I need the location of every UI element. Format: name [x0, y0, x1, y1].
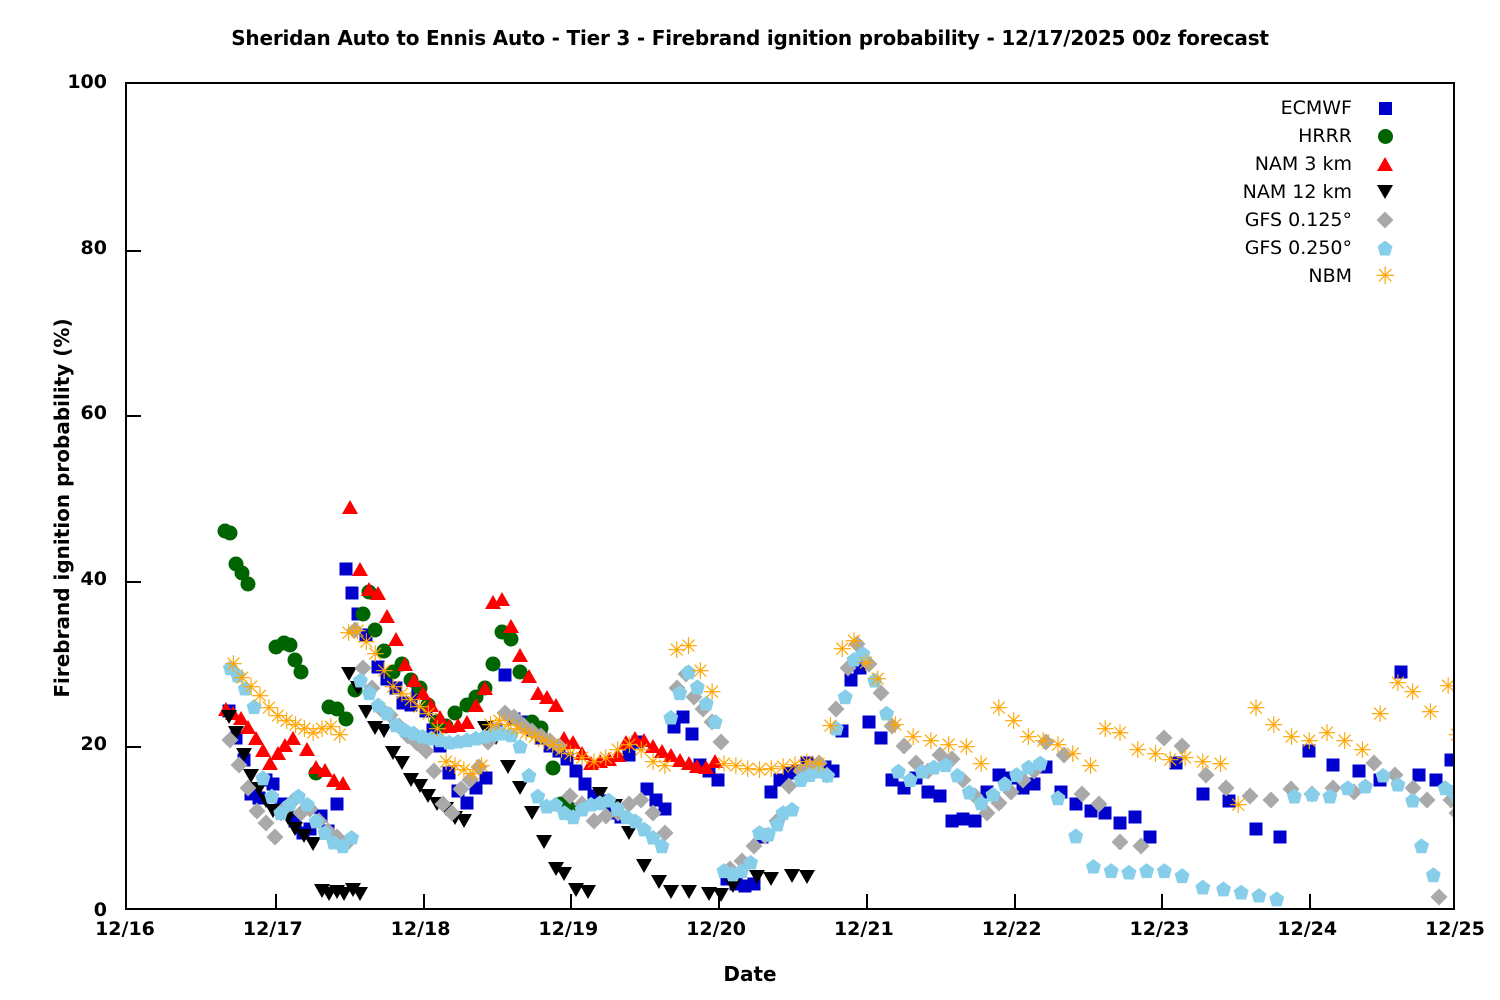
data-point	[330, 798, 343, 811]
y-tick-label: 100	[17, 71, 107, 93]
data-point	[1175, 868, 1190, 883]
x-tick-mark	[275, 894, 277, 908]
data-point	[1216, 881, 1231, 896]
data-point	[477, 681, 493, 695]
legend-marker	[1370, 210, 1400, 230]
data-point	[1195, 880, 1210, 895]
data-point	[621, 826, 637, 840]
data-point	[1445, 754, 1455, 767]
y-tick-label: 0	[17, 899, 107, 921]
data-point	[1009, 767, 1024, 782]
data-point	[579, 777, 592, 790]
x-tick-mark	[1014, 894, 1016, 908]
data-point	[536, 835, 552, 849]
data-point	[370, 586, 386, 600]
data-point	[468, 698, 484, 712]
data-point	[785, 802, 800, 817]
data-point	[1353, 765, 1366, 778]
data-point	[838, 689, 853, 704]
data-point: ✳	[820, 717, 840, 737]
data-point	[749, 870, 765, 884]
data-point	[460, 796, 473, 809]
x-axis-label: Date	[0, 962, 1500, 986]
triangle-up-marker	[1377, 157, 1393, 171]
data-point	[294, 664, 309, 679]
x-tick-label: 12/19	[538, 918, 598, 940]
y-axis-label: Firebrand ignition probability (%)	[50, 208, 74, 808]
star-marker: ✳	[1375, 266, 1395, 286]
data-point	[459, 715, 475, 729]
data-point	[1326, 758, 1339, 771]
data-point	[676, 711, 689, 724]
legend-label: GFS 0.125°	[1245, 209, 1352, 231]
data-point: ✳	[1438, 677, 1455, 697]
x-tick-label: 12/23	[1130, 918, 1190, 940]
data-point	[1414, 838, 1429, 853]
data-point	[379, 609, 395, 623]
legend-label: HRRR	[1298, 125, 1352, 147]
data-point	[681, 885, 697, 899]
data-point	[344, 830, 359, 845]
data-point	[241, 577, 256, 592]
data-point	[636, 859, 652, 873]
data-point	[763, 872, 779, 886]
data-point	[352, 887, 368, 901]
data-point	[223, 525, 238, 540]
legend-label: GFS 0.250°	[1245, 237, 1352, 259]
chart-figure: Sheridan Auto to Ennis Auto - Tier 3 - F…	[0, 0, 1500, 1000]
data-point	[221, 710, 237, 724]
triangle-down-marker	[1377, 185, 1393, 199]
legend-label: NAM 3 km	[1255, 153, 1352, 175]
data-point: ✳	[868, 670, 888, 690]
x-tick-label: 12/22	[982, 918, 1042, 940]
legend-item-nam-12-km[interactable]: NAM 12 km	[1150, 178, 1400, 206]
data-point	[1112, 833, 1129, 850]
data-point	[1269, 891, 1284, 906]
x-tick-label: 12/17	[243, 918, 303, 940]
circle-marker	[1378, 129, 1393, 144]
data-point: ✳	[1403, 683, 1423, 703]
data-point	[499, 669, 512, 682]
data-point: ✳	[330, 726, 350, 746]
data-point	[784, 869, 800, 883]
data-point	[486, 656, 501, 671]
y-tick-mark	[127, 415, 141, 417]
data-point: ✳	[655, 757, 675, 777]
data-point	[1139, 863, 1154, 878]
data-point	[335, 776, 351, 790]
legend-marker	[1370, 98, 1400, 118]
x-tick-label: 12/20	[686, 918, 746, 940]
legend-label: ECMWF	[1281, 97, 1352, 119]
data-point	[1426, 867, 1441, 882]
data-point	[1340, 780, 1355, 795]
data-point	[1358, 779, 1373, 794]
data-point	[388, 632, 404, 646]
data-point	[521, 768, 536, 783]
data-point	[862, 715, 875, 728]
data-point	[1431, 889, 1448, 906]
data-point	[1234, 885, 1249, 900]
data-point	[713, 734, 730, 751]
data-point	[255, 743, 271, 757]
data-point: ✳	[427, 720, 447, 740]
x-tick-label: 12/25	[1425, 918, 1485, 940]
data-point	[685, 727, 698, 740]
data-point	[1376, 768, 1391, 783]
data-point	[1196, 788, 1209, 801]
data-point	[933, 790, 946, 803]
data-point: ✳	[1081, 757, 1101, 777]
diamond-marker	[1377, 212, 1394, 229]
data-point: ✳	[702, 683, 722, 703]
data-point: ✳	[1228, 796, 1248, 816]
legend-marker	[1370, 182, 1400, 202]
x-tick-label: 12/21	[834, 918, 894, 940]
data-point	[1033, 755, 1048, 770]
data-point	[339, 563, 352, 576]
data-point	[1251, 888, 1266, 903]
y-tick-label: 60	[17, 402, 107, 424]
y-tick-label: 20	[17, 733, 107, 755]
data-point	[663, 885, 679, 899]
data-point	[891, 764, 906, 779]
chart-title: Sheridan Auto to Ennis Auto - Tier 3 - F…	[0, 26, 1500, 50]
y-tick-mark	[127, 581, 141, 583]
legend-item-hrrr[interactable]: HRRR	[1150, 122, 1400, 150]
legend-marker: ✳	[1370, 266, 1400, 286]
legend-marker	[1370, 126, 1400, 146]
data-point	[512, 648, 528, 662]
data-point	[282, 637, 297, 652]
data-point	[500, 760, 516, 774]
square-marker	[1379, 102, 1392, 115]
data-point	[345, 587, 358, 600]
data-point	[1157, 863, 1172, 878]
data-point: ✳	[1211, 755, 1231, 775]
data-point	[266, 829, 283, 846]
data-point	[1405, 793, 1420, 808]
x-tick-label: 12/18	[391, 918, 451, 940]
data-point	[503, 619, 519, 633]
data-point	[950, 768, 965, 783]
legend-item-ecmwf[interactable]: ECMWF	[1150, 94, 1400, 122]
data-point	[512, 781, 528, 795]
x-tick-mark	[1309, 894, 1311, 908]
data-point	[456, 814, 472, 828]
data-point	[1262, 792, 1279, 809]
legend-item-nbm[interactable]: NBM✳	[1150, 262, 1400, 290]
data-point	[1128, 810, 1141, 823]
chart-legend: ECMWFHRRRNAM 3 kmNAM 12 kmGFS 0.125°GFS …	[1150, 94, 1400, 290]
data-point: ✳	[1447, 726, 1455, 746]
data-point	[342, 500, 358, 514]
y-tick-label: 80	[17, 237, 107, 259]
data-point	[580, 885, 596, 899]
data-point	[494, 592, 510, 606]
y-tick-mark	[127, 746, 141, 748]
x-tick-mark	[423, 894, 425, 908]
data-point	[969, 814, 982, 827]
data-point	[305, 837, 321, 851]
data-point	[521, 669, 537, 683]
data-point: ✳	[1420, 703, 1440, 723]
data-point	[524, 806, 540, 820]
data-point	[1121, 865, 1136, 880]
data-point: ✳	[472, 757, 492, 777]
data-point: ✳	[1352, 741, 1372, 761]
data-point	[556, 867, 572, 881]
data-point	[765, 785, 778, 798]
data-point: ✳	[971, 755, 991, 775]
legend-marker	[1370, 154, 1400, 174]
data-point: ✳	[844, 632, 864, 652]
y-tick-label: 40	[17, 568, 107, 590]
legend-label: NBM	[1308, 265, 1352, 287]
data-point	[1114, 816, 1127, 829]
data-point	[394, 756, 410, 770]
data-point	[1068, 828, 1083, 843]
data-point	[397, 657, 413, 671]
legend-item-gfs-0-125[interactable]: GFS 0.125°	[1150, 206, 1400, 234]
legend-label: NAM 12 km	[1243, 181, 1352, 203]
x-tick-mark	[866, 894, 868, 908]
x-tick-label: 12/16	[95, 918, 155, 940]
data-point	[1273, 831, 1286, 844]
legend-item-nam-3-km[interactable]: NAM 3 km	[1150, 150, 1400, 178]
x-tick-label: 12/24	[1277, 918, 1337, 940]
data-point: ✳	[809, 755, 829, 775]
x-tick-mark	[1161, 894, 1163, 908]
data-point: ✳	[679, 637, 699, 657]
data-point	[504, 631, 519, 646]
pentagon-marker	[1378, 241, 1393, 256]
legend-marker	[1370, 238, 1400, 258]
data-point	[352, 562, 368, 576]
y-tick-mark	[127, 250, 141, 252]
data-point	[799, 870, 815, 884]
data-point: ✳	[1370, 705, 1390, 725]
data-point	[1250, 823, 1263, 836]
data-point	[1086, 859, 1101, 874]
data-point	[548, 698, 564, 712]
legend-item-gfs-0-250[interactable]: GFS 0.250°	[1150, 234, 1400, 262]
data-point	[1419, 792, 1436, 809]
data-point	[1104, 863, 1119, 878]
